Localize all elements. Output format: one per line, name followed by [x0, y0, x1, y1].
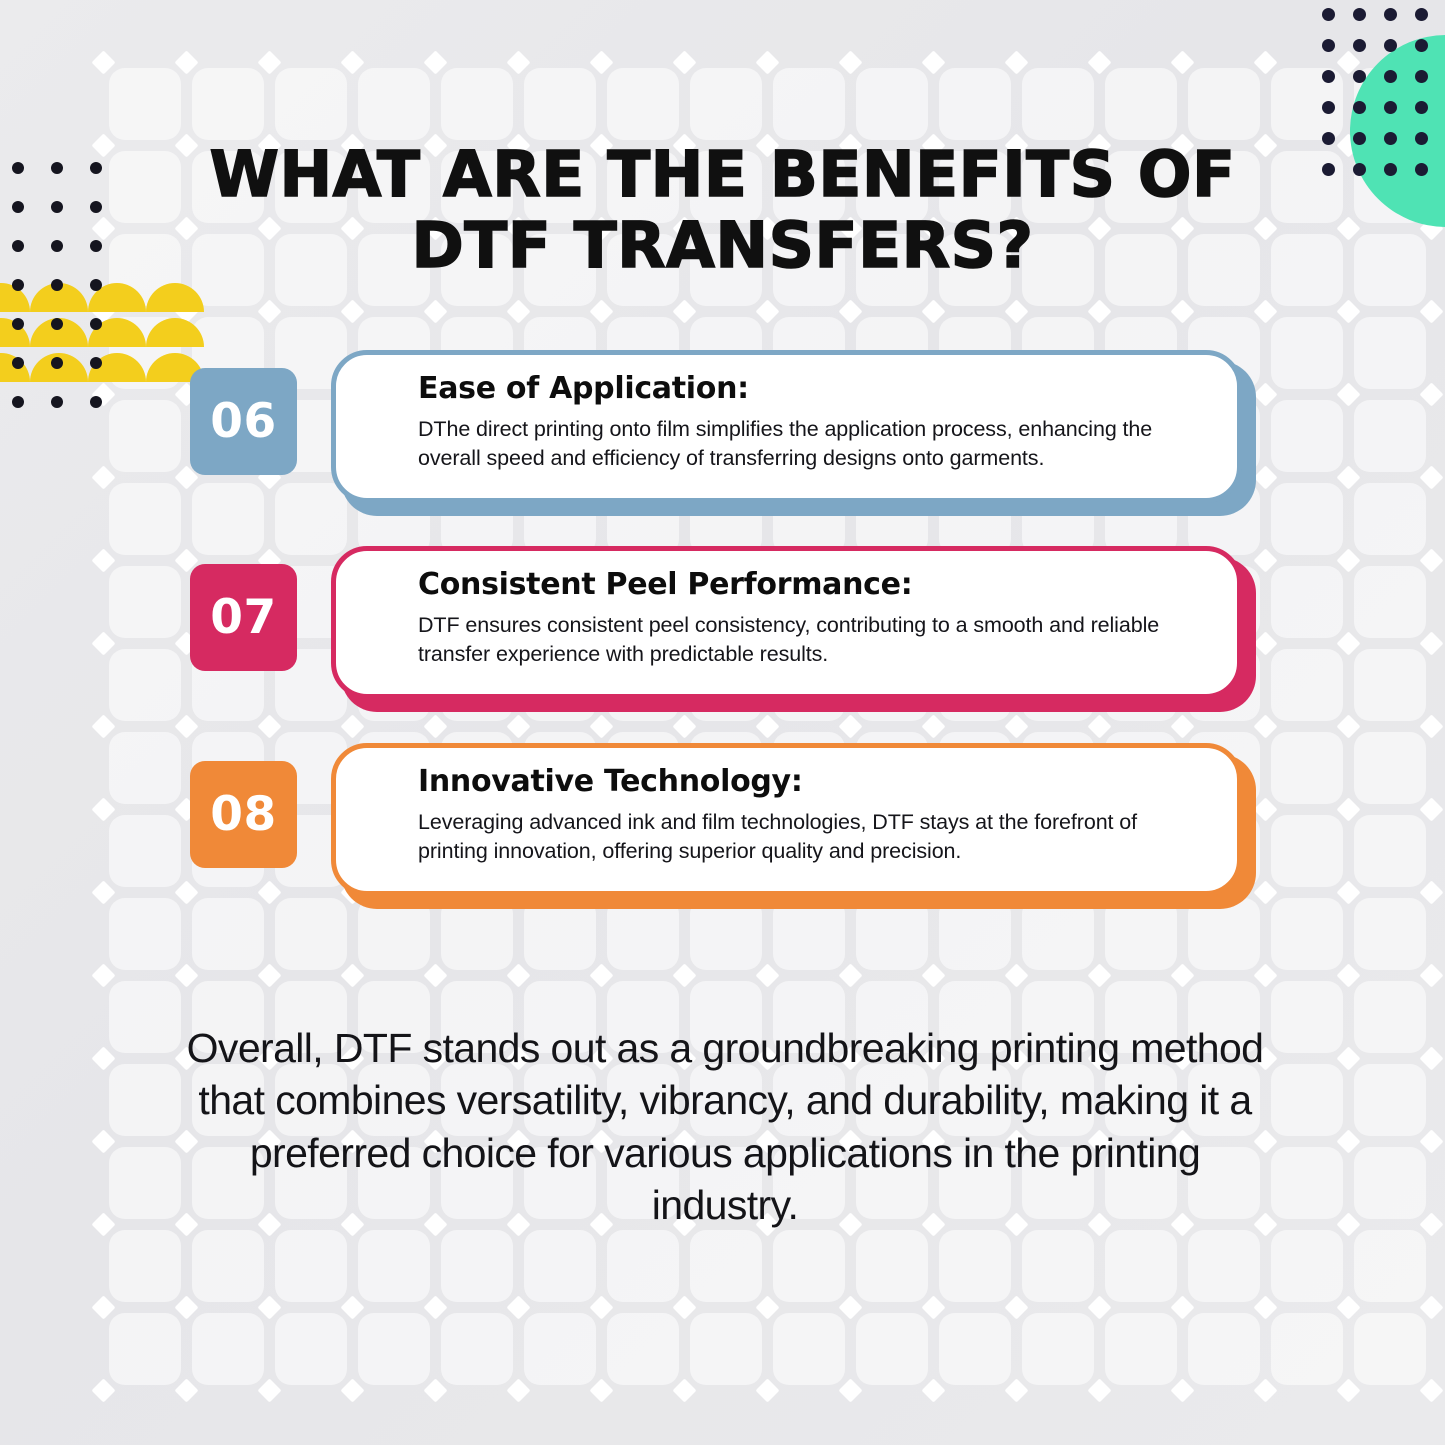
card-title-06: Ease of Application: [418, 371, 1207, 406]
badge-label-06: 06 [210, 394, 276, 449]
benefit-row-08: 08 Innovative Technology: Leveraging adv… [0, 743, 1445, 918]
badge-number-07: 07 [190, 564, 297, 671]
badge-number-06: 06 [190, 368, 297, 475]
card-body-08: Leveraging advanced ink and film technol… [418, 808, 1207, 865]
benefit-row-07: 07 Consistent Peel Performance: DTF ensu… [0, 546, 1445, 721]
badge-number-08: 08 [190, 761, 297, 868]
card-title-08: Innovative Technology: [418, 764, 1207, 799]
benefit-card-08[interactable]: Innovative Technology: Leveraging advanc… [331, 743, 1242, 896]
badge-label-07: 07 [210, 590, 276, 645]
benefit-card-06[interactable]: Ease of Application: DThe direct printin… [331, 350, 1242, 503]
benefit-card-07[interactable]: Consistent Peel Performance: DTF ensures… [331, 546, 1242, 699]
badge-label-08: 08 [210, 787, 276, 842]
card-title-07: Consistent Peel Performance: [418, 567, 1207, 602]
page-title: WHAT ARE THE BENEFITS OF DTF TRANSFERS? [180, 140, 1265, 281]
benefit-row-06: 06 Ease of Application: DThe direct prin… [0, 350, 1445, 525]
closing-paragraph: Overall, DTF stands out as a groundbreak… [180, 1022, 1270, 1232]
card-body-07: DTF ensures consistent peel consistency,… [418, 611, 1207, 668]
card-body-06: DThe direct printing onto film simplifie… [418, 415, 1207, 472]
infographic-poster: WHAT ARE THE BENEFITS OF DTF TRANSFERS? … [0, 0, 1445, 1445]
